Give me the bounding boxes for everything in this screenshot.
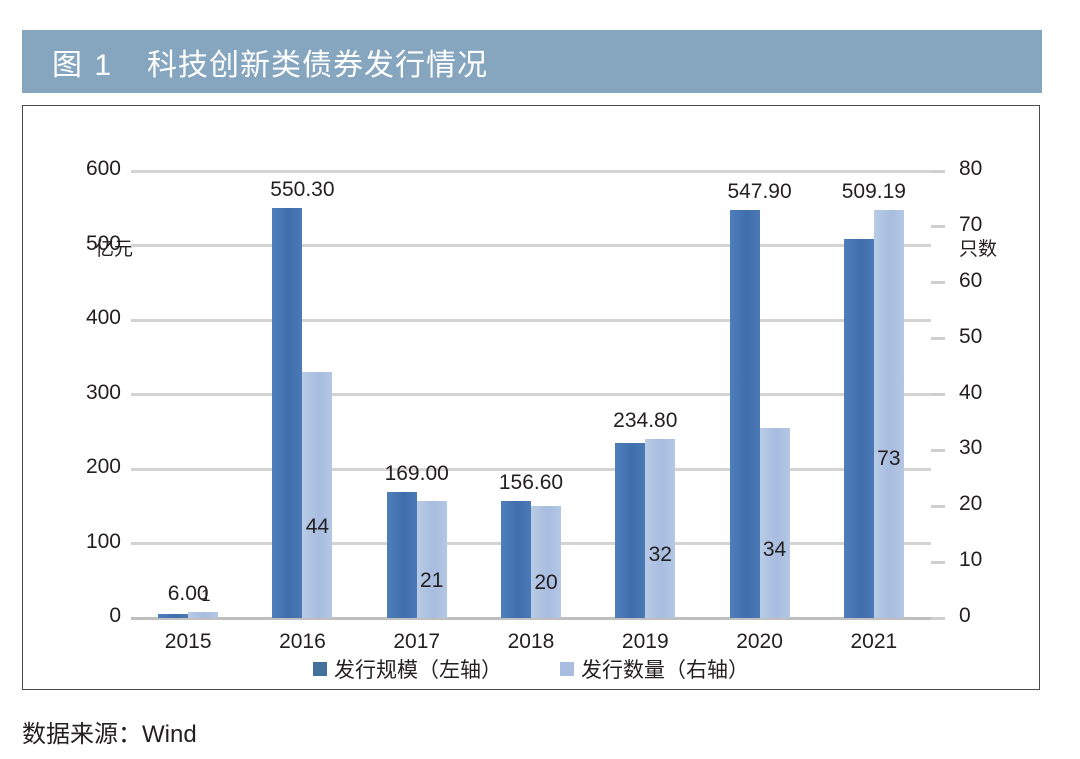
right-axis-tick-30: 30: [959, 436, 1019, 460]
right-axis-tickmark-0: [931, 617, 945, 620]
right-axis-tickmark-80: [931, 170, 945, 173]
bar-issuance-scale-2016[interactable]: [272, 208, 302, 618]
right-axis-tick-20: 20: [959, 492, 1019, 516]
right-axis-unit-label: 只数: [959, 234, 997, 261]
right-axis-tick-50: 50: [959, 325, 1019, 349]
figure-number: 图 1: [52, 40, 113, 84]
left-axis-tick-400: 400: [51, 306, 121, 330]
value-label-count-2018: 20: [516, 571, 576, 595]
right-axis-tick-70: 70: [959, 213, 1019, 237]
right-axis-tick-10: 10: [959, 548, 1019, 572]
right-axis-tickmark-60: [931, 281, 945, 284]
left-axis-tick-600: 600: [51, 157, 121, 181]
gridline-300: [131, 393, 931, 396]
left-axis-tick-300: 300: [51, 381, 121, 405]
x-axis-tick-2020: 2020: [702, 630, 816, 654]
right-axis-tickmark-20: [931, 505, 945, 508]
legend-item-issuance-scale[interactable]: 发行规模（左轴）: [313, 654, 502, 684]
value-label-count-2019: 32: [630, 543, 690, 567]
value-label-scale-2018: 156.60: [461, 471, 601, 495]
bar-issuance-count-2020[interactable]: [760, 428, 790, 618]
figure-page: 图 1 科技创新类债券发行情况 亿元 只数 发行规模（左轴） 发行数量（右轴） …: [0, 0, 1080, 759]
gridline-400: [131, 319, 931, 322]
gridline-200: [131, 468, 931, 471]
x-axis-tick-2016: 2016: [245, 630, 359, 654]
bar-issuance-scale-2017[interactable]: [387, 492, 417, 618]
x-axis-tick-2019: 2019: [588, 630, 702, 654]
bar-issuance-count-2018[interactable]: [531, 506, 561, 618]
bar-issuance-scale-2019[interactable]: [615, 443, 645, 618]
right-axis-tick-40: 40: [959, 381, 1019, 405]
bar-issuance-scale-2015[interactable]: [158, 614, 188, 618]
value-label-scale-2016: 550.30: [232, 178, 372, 202]
x-axis-tick-2015: 2015: [131, 630, 245, 654]
right-axis-tickmark-70: [931, 225, 945, 228]
right-axis-tickmark-10: [931, 561, 945, 564]
bar-issuance-scale-2021[interactable]: [844, 239, 874, 618]
figure-header-bar: 图 1 科技创新类债券发行情况: [22, 30, 1042, 93]
right-axis-tick-80: 80: [959, 157, 1019, 181]
left-axis-tick-200: 200: [51, 455, 121, 479]
value-label-count-2021: 73: [859, 447, 919, 471]
source-note: 数据来源：Wind: [22, 714, 197, 749]
x-axis-tick-2017: 2017: [360, 630, 474, 654]
chart-legend: 发行规模（左轴） 发行数量（右轴）: [23, 654, 1039, 684]
value-label-count-2020: 34: [745, 538, 805, 562]
x-axis-tick-2018: 2018: [474, 630, 588, 654]
value-label-count-2015: 1: [201, 586, 261, 606]
right-axis-tick-0: 0: [959, 604, 1019, 628]
value-label-scale-2019: 234.80: [575, 409, 715, 433]
gridline-500: [131, 244, 931, 247]
left-axis-tick-0: 0: [51, 604, 121, 628]
legend-swatch-primary: [313, 662, 327, 676]
bar-issuance-count-2021[interactable]: [874, 210, 904, 618]
right-axis-tick-60: 60: [959, 269, 1019, 293]
left-axis-tick-100: 100: [51, 530, 121, 554]
value-label-count-2016: 44: [287, 515, 347, 539]
bar-issuance-count-2015[interactable]: [188, 612, 218, 618]
left-axis-tick-500: 500: [51, 232, 121, 256]
bar-issuance-scale-2018[interactable]: [501, 501, 531, 618]
figure-title: 科技创新类债券发行情况: [147, 40, 488, 84]
right-axis-tickmark-50: [931, 337, 945, 340]
bar-issuance-count-2017[interactable]: [417, 501, 447, 618]
legend-swatch-secondary: [560, 662, 574, 676]
gridline-600: [131, 170, 931, 173]
legend-label-secondary: 发行数量（右轴）: [581, 654, 749, 684]
right-axis-tickmark-30: [931, 449, 945, 452]
value-label-scale-2021: 509.19: [804, 180, 944, 204]
legend-item-issuance-count[interactable]: 发行数量（右轴）: [560, 654, 749, 684]
bar-issuance-count-2019[interactable]: [645, 439, 675, 618]
x-axis-tick-2021: 2021: [817, 630, 931, 654]
value-label-count-2017: 21: [402, 569, 462, 593]
chart-plot-area: 亿元 只数 发行规模（左轴） 发行数量（右轴） 0100200300400500…: [23, 106, 1039, 689]
legend-label-primary: 发行规模（左轴）: [334, 654, 502, 684]
right-axis-tickmark-40: [931, 393, 945, 396]
chart-frame: 亿元 只数 发行规模（左轴） 发行数量（右轴） 0100200300400500…: [22, 105, 1040, 690]
bar-issuance-count-2016[interactable]: [302, 372, 332, 618]
